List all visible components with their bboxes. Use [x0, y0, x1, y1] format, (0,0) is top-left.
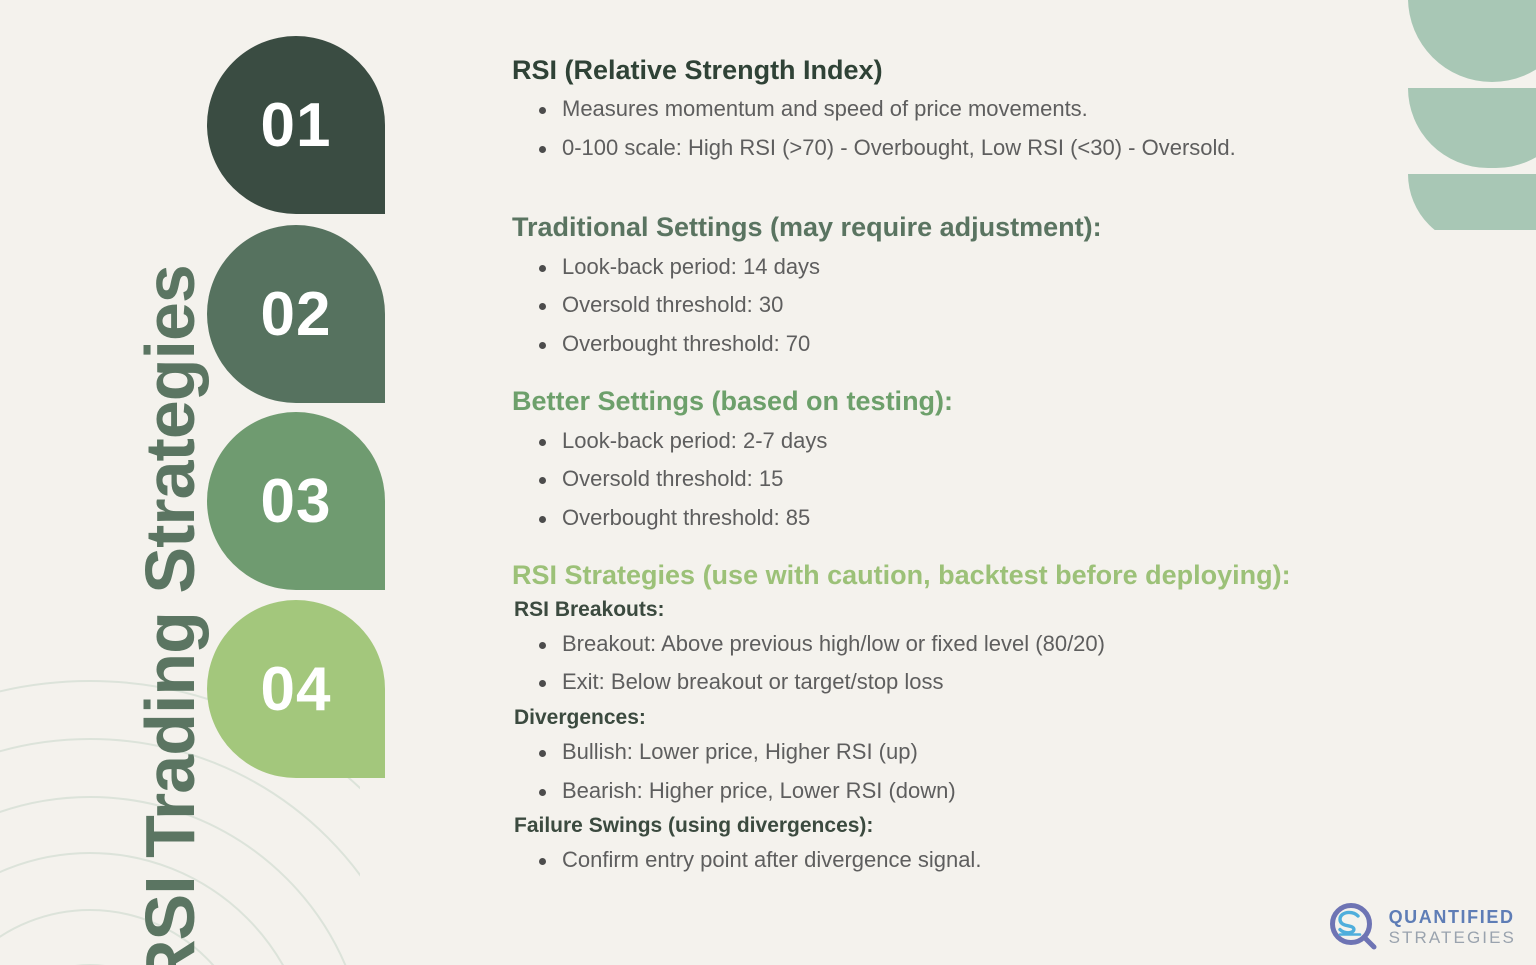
- spacer: [512, 363, 1512, 385]
- section-heading: RSI (Relative Strength Index): [512, 54, 1512, 86]
- group-failure-swings: Failure Swings (using divergences): Conf…: [512, 812, 1512, 880]
- subsection-heading: RSI Breakouts:: [514, 596, 1512, 623]
- subsection-heading: Divergences:: [514, 704, 1512, 731]
- bullet-list: Look-back period: 14 days Oversold thres…: [512, 248, 1512, 364]
- page-title: RSI Trading Strategies: [135, 0, 205, 965]
- list-item: Bullish: Lower price, Higher RSI (up): [512, 733, 1512, 772]
- bullet-list: Bullish: Lower price, Higher RSI (up) Be…: [512, 733, 1512, 810]
- logo-line-1: QUANTIFIED: [1389, 908, 1516, 926]
- step-badge-04[interactable]: 04: [207, 600, 385, 778]
- list-item: Measures momentum and speed of price mov…: [512, 90, 1512, 129]
- section-better-settings: Better Settings (based on testing): Look…: [512, 385, 1512, 537]
- section-rsi-strategies: RSI Strategies (use with caution, backte…: [512, 559, 1512, 880]
- section-heading: RSI Strategies (use with caution, backte…: [512, 559, 1512, 591]
- badge-number: 01: [261, 90, 332, 161]
- spacer: [512, 167, 1512, 211]
- bullet-list: Breakout: Above previous high/low or fix…: [512, 625, 1512, 702]
- list-item: Overbought threshold: 85: [512, 499, 1512, 538]
- list-item: Bearish: Higher price, Lower RSI (down): [512, 772, 1512, 811]
- list-item: Confirm entry point after divergence sig…: [512, 841, 1512, 880]
- magnifying-glass-s-icon: [1328, 901, 1380, 953]
- step-badge-02[interactable]: 02: [207, 225, 385, 403]
- list-item: Overbought threshold: 70: [512, 325, 1512, 364]
- infographic-canvas: RSI Trading Strategies 01 02 03 04 RSI (…: [0, 0, 1536, 965]
- step-badge-03[interactable]: 03: [207, 412, 385, 590]
- content-column: RSI (Relative Strength Index) Measures m…: [512, 54, 1512, 880]
- list-item: Oversold threshold: 15: [512, 460, 1512, 499]
- section-heading: Traditional Settings (may require adjust…: [512, 211, 1512, 243]
- list-item: Oversold threshold: 30: [512, 286, 1512, 325]
- group-divergences: Divergences: Bullish: Lower price, Highe…: [512, 704, 1512, 810]
- list-item: Look-back period: 2-7 days: [512, 422, 1512, 461]
- list-item: Breakout: Above previous high/low or fix…: [512, 625, 1512, 664]
- badge-column: 01 02 03 04: [207, 0, 387, 965]
- logo-wordmark: QUANTIFIED STRATEGIES: [1389, 908, 1516, 946]
- section-rsi-overview: RSI (Relative Strength Index) Measures m…: [512, 54, 1512, 167]
- step-badge-01[interactable]: 01: [207, 36, 385, 214]
- bullet-list: Measures momentum and speed of price mov…: [512, 90, 1512, 167]
- brand-logo[interactable]: QUANTIFIED STRATEGIES: [1328, 901, 1516, 953]
- section-heading: Better Settings (based on testing):: [512, 385, 1512, 417]
- badge-number: 02: [261, 279, 332, 350]
- list-item: Exit: Below breakout or target/stop loss: [512, 663, 1512, 702]
- vertical-title-area: RSI Trading Strategies: [0, 0, 190, 965]
- list-item: Look-back period: 14 days: [512, 248, 1512, 287]
- list-item: 0-100 scale: High RSI (>70) - Overbought…: [512, 129, 1512, 168]
- section-traditional-settings: Traditional Settings (may require adjust…: [512, 211, 1512, 363]
- group-rsi-breakouts: RSI Breakouts: Breakout: Above previous …: [512, 596, 1512, 702]
- logo-line-2: STRATEGIES: [1389, 929, 1516, 946]
- spacer: [512, 537, 1512, 559]
- subsection-heading: Failure Swings (using divergences):: [514, 812, 1512, 839]
- bullet-list: Look-back period: 2-7 days Oversold thre…: [512, 422, 1512, 538]
- badge-number: 04: [261, 654, 332, 725]
- badge-number: 03: [261, 466, 332, 537]
- bullet-list: Confirm entry point after divergence sig…: [512, 841, 1512, 880]
